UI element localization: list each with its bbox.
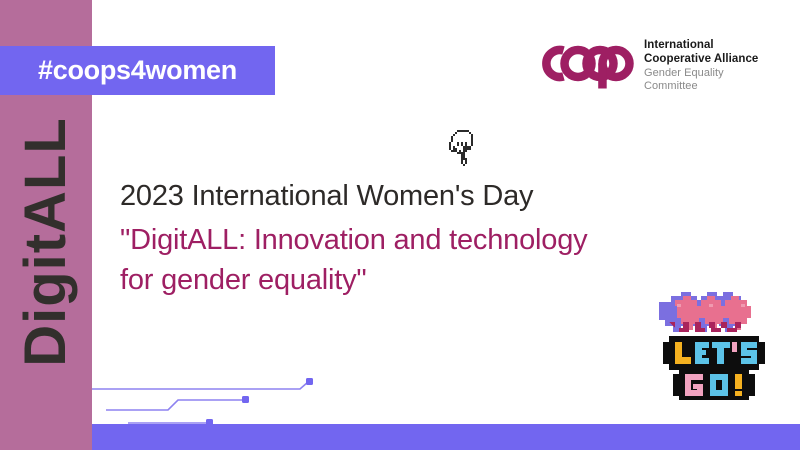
lets-go-pixel-sticker xyxy=(655,288,773,413)
coop-wordmark-icon xyxy=(538,41,634,91)
digitall-vertical-text: DigitALL xyxy=(17,117,75,367)
circuit-trace-decoration xyxy=(92,340,352,424)
ica-line-international: International xyxy=(644,39,778,53)
headline-year-title: 2023 International Women's Day xyxy=(120,178,640,215)
pixel-hearts xyxy=(659,292,751,332)
hashtag-text: #coops4women xyxy=(38,55,237,86)
circuit-node xyxy=(306,378,313,385)
circuit-node xyxy=(242,396,249,403)
ica-line-gender-equality-committee: Gender Equality Committee xyxy=(644,67,778,93)
hashtag-banner: #coops4women xyxy=(0,46,275,95)
headline-block: 2023 International Women's Day "DigitALL… xyxy=(120,178,640,300)
ica-logo-text: International Cooperative Alliance Gende… xyxy=(644,39,778,93)
circuit-node xyxy=(206,419,213,424)
ica-logo: International Cooperative Alliance Gende… xyxy=(538,40,778,92)
banner-canvas: DigitALL #coops4women xyxy=(0,0,800,450)
bottom-accent-bar xyxy=(92,424,800,450)
ica-line-cooperative-alliance: Cooperative Alliance xyxy=(644,53,778,67)
pointing-hand-cursor-icon xyxy=(443,128,483,170)
headline-theme: "DigitALL: Innovation and technology for… xyxy=(120,220,590,300)
